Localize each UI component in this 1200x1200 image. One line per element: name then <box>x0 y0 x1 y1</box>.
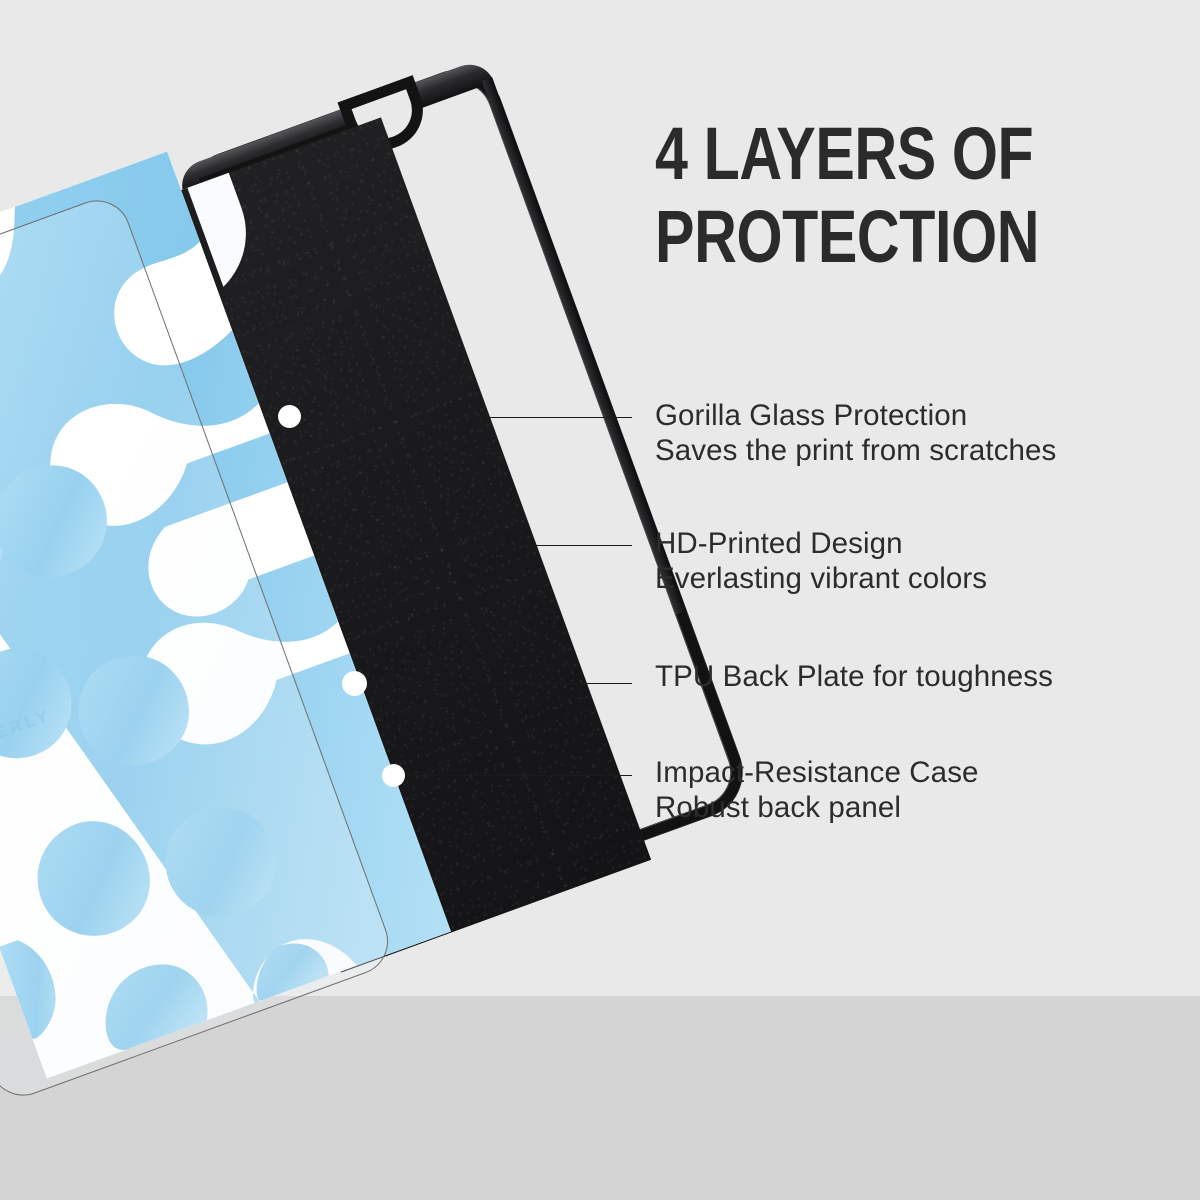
infographic-stage: EEPERLY Gorilla Glass Protection Saves t… <box>0 0 1200 1200</box>
callout-title-hd-printed-design: HD-Printed Design <box>655 526 987 561</box>
callout-text-impact-resistance-case: Impact-Resistance Case Robust back panel <box>655 755 979 825</box>
page-title-line-1: 4 LAYERS OF <box>655 112 1039 195</box>
callout-title-tpu-back-plate: TPU Back Plate for toughness <box>655 659 1053 694</box>
leader-line-impact-resistance-case <box>403 775 632 776</box>
callout-title-gorilla-glass: Gorilla Glass Protection <box>655 398 1056 433</box>
callout-text-hd-printed-design: HD-Printed Design Everlasting vibrant co… <box>655 526 987 596</box>
leader-dot-impact-resistance-case <box>382 764 405 787</box>
leader-dot-gorilla-glass <box>278 405 301 428</box>
leader-line-tpu-back-plate <box>366 683 632 684</box>
page-title-line-2: PROTECTION <box>655 195 1039 278</box>
callout-subtitle-gorilla-glass: Saves the print from scratches <box>655 433 1056 468</box>
leader-dot-tpu-back-plate <box>342 671 367 696</box>
callout-title-impact-resistance-case: Impact-Resistance Case <box>655 755 979 790</box>
page-title: 4 LAYERS OF PROTECTION <box>655 112 1039 278</box>
callout-subtitle-impact-resistance-case: Robust back panel <box>655 790 979 825</box>
callout-subtitle-hd-printed-design: Everlasting vibrant colors <box>655 561 987 596</box>
leader-line-gorilla-glass <box>292 417 632 418</box>
callout-text-tpu-back-plate: TPU Back Plate for toughness <box>655 659 1053 694</box>
leader-line-hd-printed-design <box>343 545 632 546</box>
product-exploded-view: EEPERLY <box>0 0 700 1120</box>
callout-text-gorilla-glass: Gorilla Glass Protection Saves the print… <box>655 398 1056 468</box>
